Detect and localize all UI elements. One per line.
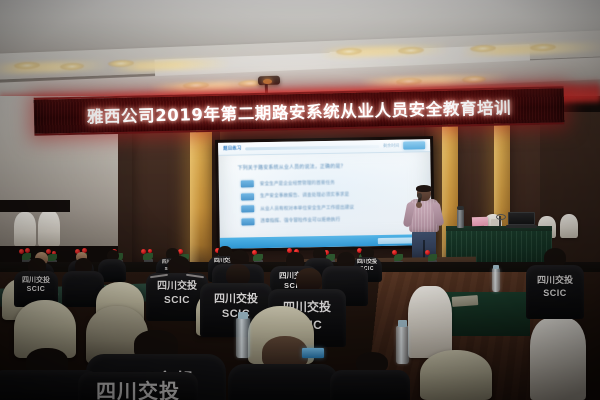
slide-header-bar: 题目练习 剩余时间 xyxy=(218,139,430,156)
slide-option-row: 违章指挥、强令冒险作业可以拒绝执行 xyxy=(241,216,354,225)
projection-screen-frame: 题目练习 剩余时间 下列关于路安系统从业人员的说法，正确的是？ 安全生产是企业经… xyxy=(215,136,435,252)
slide-header-button xyxy=(403,141,425,149)
option-text: 安全生产是企业经营管理的首要任务 xyxy=(260,179,335,186)
foliage xyxy=(394,254,403,261)
attendee: 四川交投 SCIC xyxy=(526,248,584,318)
option-text: 生产安全事故报告、调查处理必须实事求是 xyxy=(260,192,349,200)
attendee: 四川交投 xyxy=(78,372,198,400)
jacket-chinese-text: 四川交投 xyxy=(526,277,584,286)
attendee: 四川交投 SCIC xyxy=(14,258,58,306)
projection-screen: 题目练习 剩余时间 下列关于路安系统从业人员的说法，正确的是？ 安全生产是企业经… xyxy=(218,139,432,249)
jacket-english-text: SCIC xyxy=(526,289,584,298)
laptop xyxy=(506,212,536,228)
bottle-cap xyxy=(238,312,248,319)
jacket-chinese-text: 四川交投 xyxy=(78,381,198,400)
handout-paper xyxy=(452,295,479,307)
slide-question-text: 下列关于路安系统从业人员的说法，正确的是？ xyxy=(237,163,345,172)
thermos-flask xyxy=(457,209,464,228)
slide-header-divider xyxy=(246,145,380,150)
covered-chair xyxy=(408,286,452,358)
option-badge-d xyxy=(241,218,254,225)
jacket-chinese-text: 四川交投 xyxy=(200,293,272,304)
option-text: 从业人员有权对本单位安全生产工作提出建议 xyxy=(260,204,354,212)
slide-option-row: 生产安全事故报告、调查处理必须实事求是 xyxy=(241,191,354,200)
photograph-scene: 雅西公司2019年第二期路安系统从业人员安全教育培训 题目练习 剩余时间 下列关… xyxy=(0,0,600,400)
covered-chair xyxy=(530,318,586,400)
option-badge-c xyxy=(241,205,254,212)
covered-chair xyxy=(14,212,36,246)
jacket-english-text: SCIC xyxy=(14,286,58,293)
smartphone-screen xyxy=(302,348,324,358)
attendee xyxy=(330,352,410,400)
wall-panel xyxy=(132,118,190,264)
option-badge-a xyxy=(241,180,254,187)
covered-chair xyxy=(38,210,60,246)
bottle-cap xyxy=(398,320,407,327)
wall-light-panel xyxy=(190,120,212,262)
slide-header-left-label: 题目练习 xyxy=(223,145,241,151)
attendee-jacket xyxy=(330,370,410,400)
slide-header-right-label: 剩余时间 xyxy=(383,143,399,149)
covered-chair xyxy=(560,214,578,238)
microphone-head-icon xyxy=(417,193,422,198)
jacket-chinese-text: 四川交投 xyxy=(146,282,208,292)
option-badge-b xyxy=(241,193,254,200)
presenter-hair xyxy=(416,185,432,192)
laptop-keyboard xyxy=(506,225,537,228)
jacket-chinese-text: 四川交投 xyxy=(14,277,58,284)
attendee-jacket: 四川交投 xyxy=(78,372,198,400)
foliage xyxy=(428,254,437,261)
presenter-hand xyxy=(416,202,422,208)
slide-option-row: 安全生产是企业经营管理的首要任务 xyxy=(241,178,354,187)
chair xyxy=(420,350,492,400)
banner-text: 雅西公司2019年第二期路安系统从业人员安全教育培训 xyxy=(87,94,512,127)
jacket-shoulder-stripe xyxy=(150,274,168,278)
bottle-cap xyxy=(493,265,499,269)
thermos-cap xyxy=(457,206,464,210)
attendee-jacket: 四川交投 SCIC xyxy=(526,265,584,319)
slide-option-row: 从业人员有权对本单位安全生产工作提出建议 xyxy=(241,203,354,212)
microphone-stand xyxy=(499,216,501,226)
left-table xyxy=(0,200,70,212)
paper-cup xyxy=(491,219,498,226)
option-text: 违章指挥、强令冒险作业可以拒绝执行 xyxy=(260,217,340,224)
attendee xyxy=(228,336,338,400)
water-bottle xyxy=(492,268,500,292)
attendee-jacket xyxy=(228,364,338,400)
laptop-screen xyxy=(508,212,535,225)
slide-options-list: 安全生产是企业经营管理的首要任务 生产安全事故报告、调查处理必须实事求是 从业人… xyxy=(241,178,355,224)
name-card xyxy=(472,217,488,227)
